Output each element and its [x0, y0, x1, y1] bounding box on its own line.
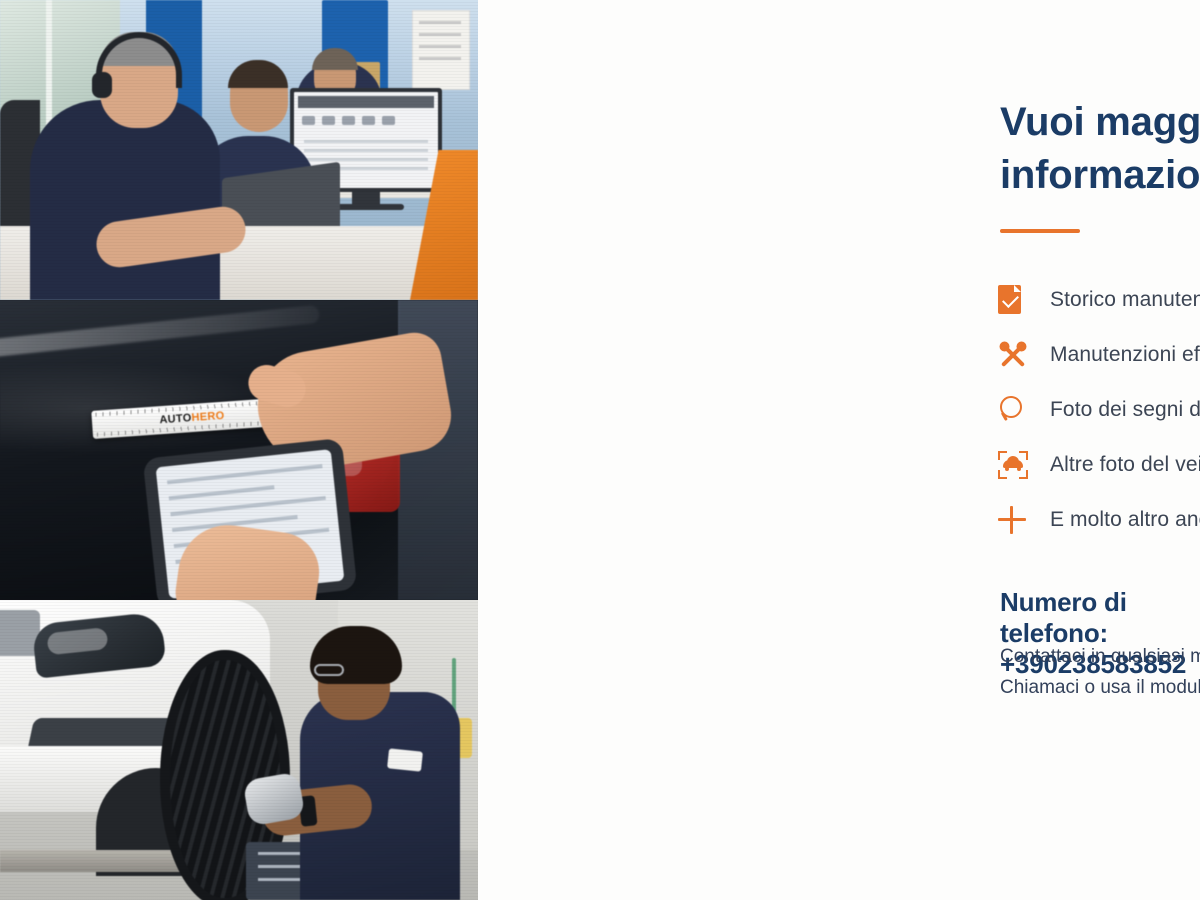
mechanic-wheel-check-photo: [0, 600, 478, 900]
contact-line-2: Chiamaci o usa il modulo di contatto.: [1000, 673, 1200, 704]
ruler-brand-hero: HERO: [191, 410, 225, 424]
feature-item-altro: E molto altro ancora: [998, 492, 1200, 547]
vehicle-inspection-ruler-photo: AUTOHERO: [0, 300, 478, 600]
magnifier-icon: [998, 393, 1050, 427]
feature-item-altre-foto: Altre foto del veicolo: [998, 437, 1200, 492]
contact-text: Contattaci in qualsiasi momento per ulte…: [1000, 642, 1200, 704]
content-column: Vuoi maggiori informazioni su ? Saremo f…: [478, 0, 1200, 900]
document-check-icon: [998, 283, 1050, 317]
page-title: Vuoi maggiori informazioni su ?: [1000, 96, 1200, 202]
headline-line-1: Vuoi maggiori: [1000, 100, 1200, 144]
car-focus-icon: [998, 448, 1050, 482]
feature-label: E molto altro ancora: [1050, 508, 1200, 532]
feature-item-foto-usura: Foto dei segni di usura: [998, 382, 1200, 437]
photo-column: AUTOHERO: [0, 0, 478, 900]
feature-label: Foto dei segni di usura: [1050, 398, 1200, 422]
feature-label: Storico manutentivo: [1050, 288, 1200, 312]
feature-item-manutenzioni: Manutenzioni effettuate: [998, 327, 1200, 382]
feature-label: Altre foto del veicolo: [1050, 453, 1200, 477]
ruler-brand-auto: AUTO: [159, 412, 192, 426]
feature-item-storico: Storico manutentivo: [998, 272, 1200, 327]
promo-banner: AUTOHERO: [0, 0, 1200, 900]
title-divider: [1000, 229, 1080, 233]
feature-list: Storico manutentivo Manutenzioni effettu…: [998, 272, 1200, 547]
call-center-agents-photo: [0, 0, 478, 300]
contact-line-1: Contattaci in qualsiasi momento per ulte…: [1000, 642, 1200, 673]
tools-cross-icon: [998, 338, 1050, 372]
headline-line-2: informazioni su ?: [1000, 149, 1200, 202]
plus-icon: [998, 503, 1050, 537]
feature-label: Manutenzioni effettuate: [1050, 343, 1200, 367]
